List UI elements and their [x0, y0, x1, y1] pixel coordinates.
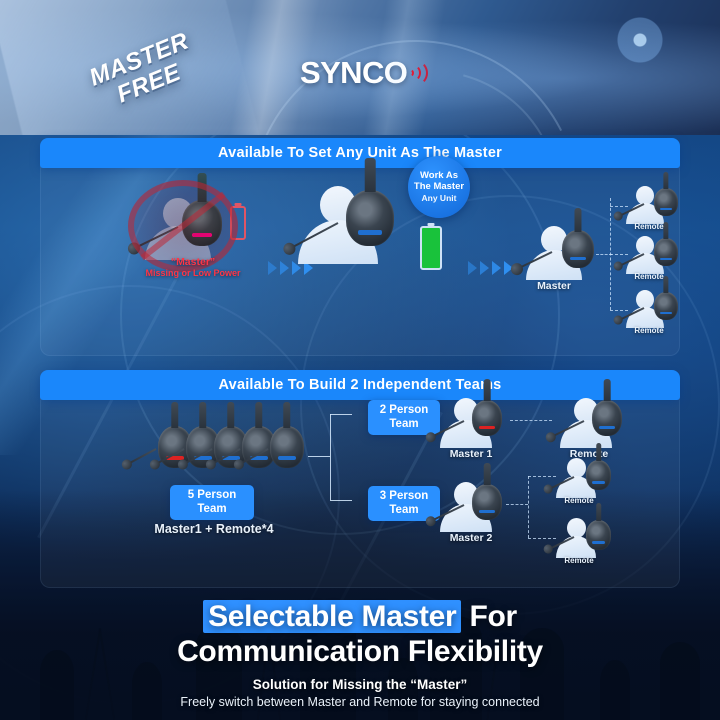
section2-banner: Available To Build 2 Independent Teams: [40, 370, 680, 400]
synco-logo: SYNCO: [300, 55, 431, 91]
split-branch-top: [330, 414, 352, 415]
five-person-team-caption: Master1 + Remote*4: [144, 522, 284, 536]
link-stub-b: [506, 504, 528, 505]
work-as-master-badge: Work As The Master Any Unit: [408, 156, 470, 218]
team5-line2: Team: [197, 503, 226, 515]
footer-headline-rest: For: [469, 600, 516, 633]
footer-headline-line2: Communication Flexibility: [0, 634, 720, 670]
badge-line-2: The Master: [414, 181, 464, 193]
two-person-team-badge: 2 Person Team: [368, 400, 440, 435]
master2-label: Master 2: [440, 532, 502, 544]
section1-banner: Available To Set Any Unit As The Master: [40, 138, 680, 168]
footer-sub-2: Freely switch between Master and Remote …: [0, 695, 720, 709]
headset-device-master1: [472, 400, 502, 436]
headset-device-master: [562, 230, 594, 268]
split-trunk: [330, 414, 331, 500]
header-banner: MASTER FREE SYNCO: [0, 0, 720, 135]
teamB-line1: 3 Person: [380, 490, 429, 502]
headset-device-master2: [472, 484, 502, 520]
link-branch-b2: [528, 538, 556, 539]
split-branch-bottom: [330, 500, 352, 501]
header-plate-decoration: [0, 0, 262, 135]
link-trunk-b: [528, 476, 529, 538]
flow-arrows-2: [468, 261, 513, 275]
badge-sub: Any Unit: [422, 193, 457, 205]
header-swirl-decoration: [207, 0, 623, 135]
section-master-selection: Available To Set Any Unit As The Master …: [40, 138, 680, 356]
problem-unit-sublabel: Missing or Low Power: [113, 268, 273, 278]
master-label: Master: [524, 280, 584, 292]
five-person-team-badge: 5 Person Team: [170, 485, 254, 520]
remote-b2-label: Remote: [556, 556, 602, 565]
remote-label: Remote: [628, 326, 670, 335]
master-free-line2: FREE: [96, 52, 202, 115]
battery-icon-full: [420, 226, 442, 270]
footer-headline-highlight: Selectable Master: [203, 600, 461, 633]
problem-unit-label: “Master”: [138, 256, 248, 268]
teamA-line2: Team: [389, 418, 418, 430]
split-stub: [308, 456, 330, 457]
footer-sub-1: Solution for Missing the “Master”: [0, 677, 720, 692]
link-line-a: [510, 420, 552, 421]
teamB-line2: Team: [389, 504, 418, 516]
header-swirl-decoration-2: [252, 22, 607, 135]
link-branch-b1: [528, 476, 556, 477]
headset-device-remote-a: [592, 400, 622, 436]
master-free-tag: MASTER FREE: [86, 28, 202, 115]
master-free-line1: MASTER: [86, 28, 192, 91]
infographic-page: MASTER FREE SYNCO: [0, 0, 720, 720]
badge-line-1: Work As: [420, 170, 458, 182]
teamA-line1: 2 Person: [380, 404, 429, 416]
section-independent-teams: Available To Build 2 Independent Teams: [40, 370, 680, 588]
master1-label: Master 1: [440, 448, 502, 460]
footer-headline-line1: Selectable Master For: [0, 600, 720, 634]
team5-line1: 5 Person: [188, 489, 237, 501]
sound-wave-icon: [405, 58, 431, 88]
footer-message: Selectable Master For Communication Flex…: [0, 600, 720, 720]
headset-device-new-master: [346, 190, 394, 246]
synco-logo-text: SYNCO: [300, 55, 407, 91]
